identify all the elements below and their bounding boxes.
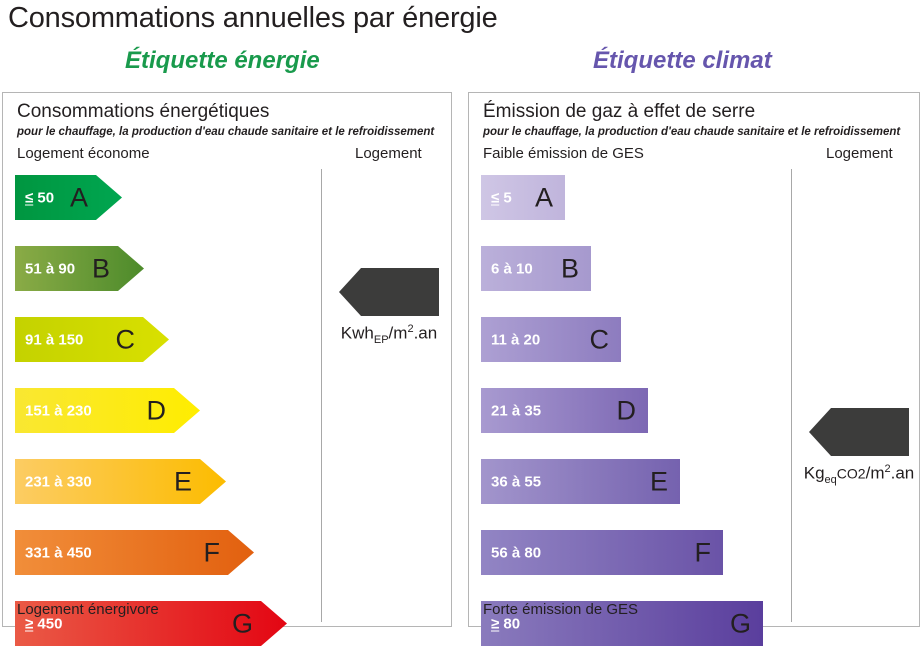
bar-range-label: 56 à 80: [491, 545, 541, 560]
bar-row: 91 à 150C: [15, 317, 169, 362]
energy-unit-label: KwhEP/m2.an: [341, 324, 437, 346]
climate-panel-divider: [791, 169, 792, 622]
climate-panel: Émission de gaz à effet de serre pour le…: [468, 92, 920, 627]
bar-range-operator: ≤: [491, 189, 499, 206]
bar-letter-d: D: [147, 397, 167, 424]
bar-letter-g: G: [730, 610, 751, 637]
climate-unit-label: KgeqCO2/m2.an: [804, 464, 915, 486]
climate-panel-title: Émission de gaz à effet de serre: [483, 101, 755, 123]
bar-letter-a: A: [70, 184, 88, 211]
bar-row: 231 à 330E: [15, 459, 226, 504]
bar-letter-e: E: [174, 468, 192, 495]
bar-letter-e: E: [650, 468, 668, 495]
climate-unit-tail: .an: [891, 464, 915, 483]
left-arrow-icon: [809, 408, 909, 456]
left-arrow-icon: [339, 268, 439, 316]
bar-range-label: 51 à 90: [25, 261, 75, 276]
climate-unit-subscript: eq: [825, 474, 837, 486]
bar-row: 151 à 230D: [15, 388, 200, 433]
bar-range-operator: ≤: [25, 189, 33, 206]
bar-row: ≤ 5A: [481, 175, 565, 220]
energy-unit-tail: .an: [414, 324, 438, 343]
bar-row: 331 à 450F: [15, 530, 254, 575]
bar-range-label: 151 à 230: [25, 403, 92, 418]
bar-letter-f: F: [204, 539, 221, 566]
bar-range-label: 21 à 35: [491, 403, 541, 418]
energy-unit-subscript: EP: [374, 334, 389, 346]
climate-unit-mid: CO2: [837, 466, 866, 482]
bar-letter-a: A: [535, 184, 553, 211]
bar-range-label: 11 à 20: [491, 332, 540, 347]
climate-label-caption: Étiquette climat: [593, 47, 772, 75]
climate-pointer-arrow: [809, 408, 909, 456]
bar-letter-c: C: [116, 326, 136, 353]
bar-range-operator: ≥: [491, 615, 499, 632]
climate-column-label: Logement: [826, 145, 893, 162]
energy-pointer-arrow: [339, 268, 439, 316]
bar-range-label: 6 à 10: [491, 261, 533, 276]
bar-letter-c: C: [590, 326, 610, 353]
bar-row: 51 à 90B: [15, 246, 144, 291]
page-title: Consommations annuelles par énergie: [8, 2, 498, 35]
bar-letter-b: B: [92, 255, 110, 282]
bar-row: ≤ 50A: [15, 175, 122, 220]
bar-row: 11 à 20C: [481, 317, 621, 362]
energy-unit-prefix: Kwh: [341, 324, 374, 343]
energy-panel-subtitle: pour le chauffage, la production d'eau c…: [17, 126, 434, 138]
bar-range-label: 91 à 150: [25, 332, 83, 347]
bar-row: 36 à 55E: [481, 459, 680, 504]
bar-letter-d: D: [617, 397, 637, 424]
bar-range-label: ≤ 5: [491, 190, 512, 205]
bar-range-label: 331 à 450: [25, 545, 92, 560]
bar-range-label: 36 à 55: [491, 474, 541, 489]
energy-column-label: Logement: [355, 145, 422, 162]
bar-range-label: ≥ 80: [491, 616, 520, 631]
energy-unit-suffix: /m: [389, 324, 408, 343]
bar-range-label: ≥ 450: [25, 616, 62, 631]
climate-unit-suffix: /m: [866, 464, 885, 483]
energy-panel: Consommations énergétiques pour le chauf…: [2, 92, 452, 627]
bar-range-label: 231 à 330: [25, 474, 92, 489]
climate-unit-prefix: Kg: [804, 464, 825, 483]
energy-top-label: Logement économe: [17, 145, 150, 162]
climate-top-label: Faible émission de GES: [483, 145, 644, 162]
bar-row: 56 à 80F: [481, 530, 723, 575]
bar-letter-b: B: [561, 255, 579, 282]
energy-label-caption: Étiquette énergie: [125, 47, 320, 75]
energy-panel-divider: [321, 169, 322, 622]
climate-panel-subtitle: pour le chauffage, la production d'eau c…: [483, 126, 900, 138]
bar-row: 21 à 35D: [481, 388, 648, 433]
energy-panel-title: Consommations énergétiques: [17, 101, 269, 123]
bar-letter-g: G: [232, 610, 253, 637]
bar-row: 6 à 10B: [481, 246, 591, 291]
bar-range-operator: ≥: [25, 615, 33, 632]
bar-letter-f: F: [695, 539, 712, 566]
bar-range-label: ≤ 50: [25, 190, 54, 205]
